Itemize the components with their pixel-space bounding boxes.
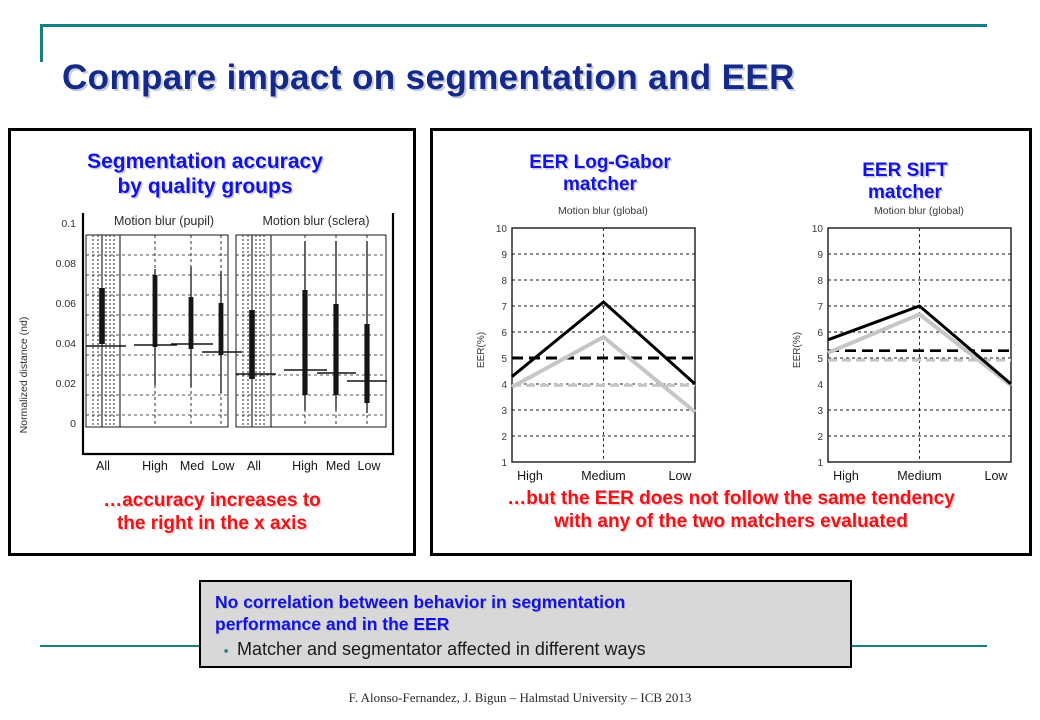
segmentation-caption-line1: …accuracy increases to (22, 490, 402, 513)
conclusion-heading-line1: No correlation between behavior in segme… (215, 591, 836, 613)
sift-ytick-1: 1 (817, 458, 823, 469)
boxplot-xtick-sclera-all: All (247, 459, 261, 473)
gabor-xtick-low: Low (669, 469, 693, 483)
boxplot-xtick-pupil-low: Low (212, 459, 236, 473)
conclusion-heading: No correlation between behavior in segme… (215, 591, 836, 636)
gabor-ytick-8: 8 (501, 276, 507, 287)
segmentation-chart-title-line2: by quality groups (30, 175, 380, 200)
conclusion-box: No correlation between behavior in segme… (199, 580, 852, 668)
sift-y-axis-label: EER(%) (792, 332, 803, 368)
boxplot-plot-area (86, 235, 387, 427)
sift-chart-title-line1: EER SIFT (790, 160, 1020, 182)
boxplot-xtick-sclera-low: Low (358, 459, 382, 473)
boxplot-y-axis-label: Normalized distance (nd) (18, 317, 30, 434)
sift-ytick-6: 6 (817, 328, 823, 339)
gabor-chart-title-line2: matcher (470, 174, 730, 196)
eer-sift-chart: Motion blur (global) EER(%) 10 9 8 7 6 5… (786, 200, 1026, 485)
sift-ytick-8: 8 (817, 276, 823, 287)
sift-chart-title: EER SIFT matcher (790, 160, 1020, 205)
eer-log-gabor-chart: Motion blur (global) EER(%) 10 9 8 7 6 5… (470, 200, 710, 485)
boxplot-xtick-sclera-high: High (292, 459, 318, 473)
sift-ytick-5: 5 (817, 354, 823, 365)
gabor-ytick-9: 9 (501, 250, 507, 261)
segmentation-chart-title: Segmentation accuracy by quality groups (30, 150, 380, 200)
conclusion-heading-line2: performance and in the EER (215, 613, 836, 635)
sift-ytick-2: 2 (817, 432, 823, 443)
gabor-y-axis-label: EER(%) (476, 332, 487, 368)
eer-caption: …but the EER does not follow the same te… (436, 488, 1026, 534)
segmentation-chart-title-line1: Segmentation accuracy (30, 150, 380, 175)
gabor-ytick-10: 10 (496, 224, 508, 235)
conclusion-bullet-row: ▪ Matcher and segmentator affected in di… (215, 639, 836, 660)
gabor-plot-area (512, 228, 695, 462)
gabor-ytick-5: 5 (501, 354, 507, 365)
boxplot-ytick-0.06: 0.06 (56, 298, 77, 310)
gabor-ytick-4: 4 (501, 380, 507, 391)
header-rule (40, 24, 987, 27)
boxplot-xtick-pupil-high: High (142, 459, 168, 473)
gabor-ytick-3: 3 (501, 406, 507, 417)
sift-ytick-7: 7 (817, 302, 823, 313)
eer-caption-line2: with any of the two matchers evaluated (436, 511, 1026, 534)
page-title: Compare impact on segmentation and EER (62, 58, 962, 98)
gabor-subtitle: Motion blur (global) (558, 205, 648, 217)
gabor-ytick-7: 7 (501, 302, 507, 313)
segmentation-boxplot-chart: Normalized distance (nd) 0.1 0.08 0.06 0… (14, 205, 404, 473)
header-left-tick (40, 24, 43, 62)
sift-ytick-3: 3 (817, 406, 823, 417)
gabor-ytick-6: 6 (501, 328, 507, 339)
boxplot-group-label-sclera: Motion blur (sclera) (263, 214, 370, 228)
boxplot-group-label-pupil: Motion blur (pupil) (114, 214, 214, 228)
sift-ytick-9: 9 (817, 250, 823, 261)
sift-ytick-4: 4 (817, 380, 823, 391)
boxplot-ytick-0.08: 0.08 (56, 258, 77, 270)
boxplot-xtick-pupil-all: All (96, 459, 110, 473)
gabor-chart-title: EER Log-Gabor matcher (470, 152, 730, 197)
boxplot-ytick-0.02: 0.02 (56, 378, 77, 390)
sift-subtitle: Motion blur (global) (874, 205, 964, 217)
eer-caption-line1: …but the EER does not follow the same te… (436, 488, 1026, 511)
sift-xtick-low: Low (985, 469, 1009, 483)
gabor-xtick-high: High (517, 469, 543, 483)
boxplot-ytick-0: 0 (70, 418, 76, 430)
boxplot-ytick-0.04: 0.04 (56, 338, 77, 350)
boxplot-xtick-pupil-med: Med (180, 459, 204, 473)
slide-footer: F. Alonso-Fernandez, J. Bigun – Halmstad… (0, 690, 1040, 706)
bullet-icon: ▪ (215, 644, 237, 657)
slide-canvas: Compare impact on segmentation and EER S… (0, 0, 1040, 720)
gabor-ytick-2: 2 (501, 432, 507, 443)
segmentation-caption: …accuracy increases to the right in the … (22, 490, 402, 536)
conclusion-bullet-text: Matcher and segmentator affected in diff… (237, 639, 646, 660)
gabor-ytick-1: 1 (501, 458, 507, 469)
segmentation-caption-line2: the right in the x axis (22, 513, 402, 536)
boxplot-xtick-sclera-med: Med (326, 459, 350, 473)
sift-plot-area (828, 228, 1011, 462)
sift-ytick-10: 10 (812, 224, 824, 235)
boxplot-ytick-0.1: 0.1 (61, 218, 76, 230)
gabor-xtick-medium: Medium (581, 469, 625, 483)
sift-xtick-high: High (833, 469, 859, 483)
sift-xtick-medium: Medium (897, 469, 941, 483)
gabor-chart-title-line1: EER Log-Gabor (470, 152, 730, 174)
